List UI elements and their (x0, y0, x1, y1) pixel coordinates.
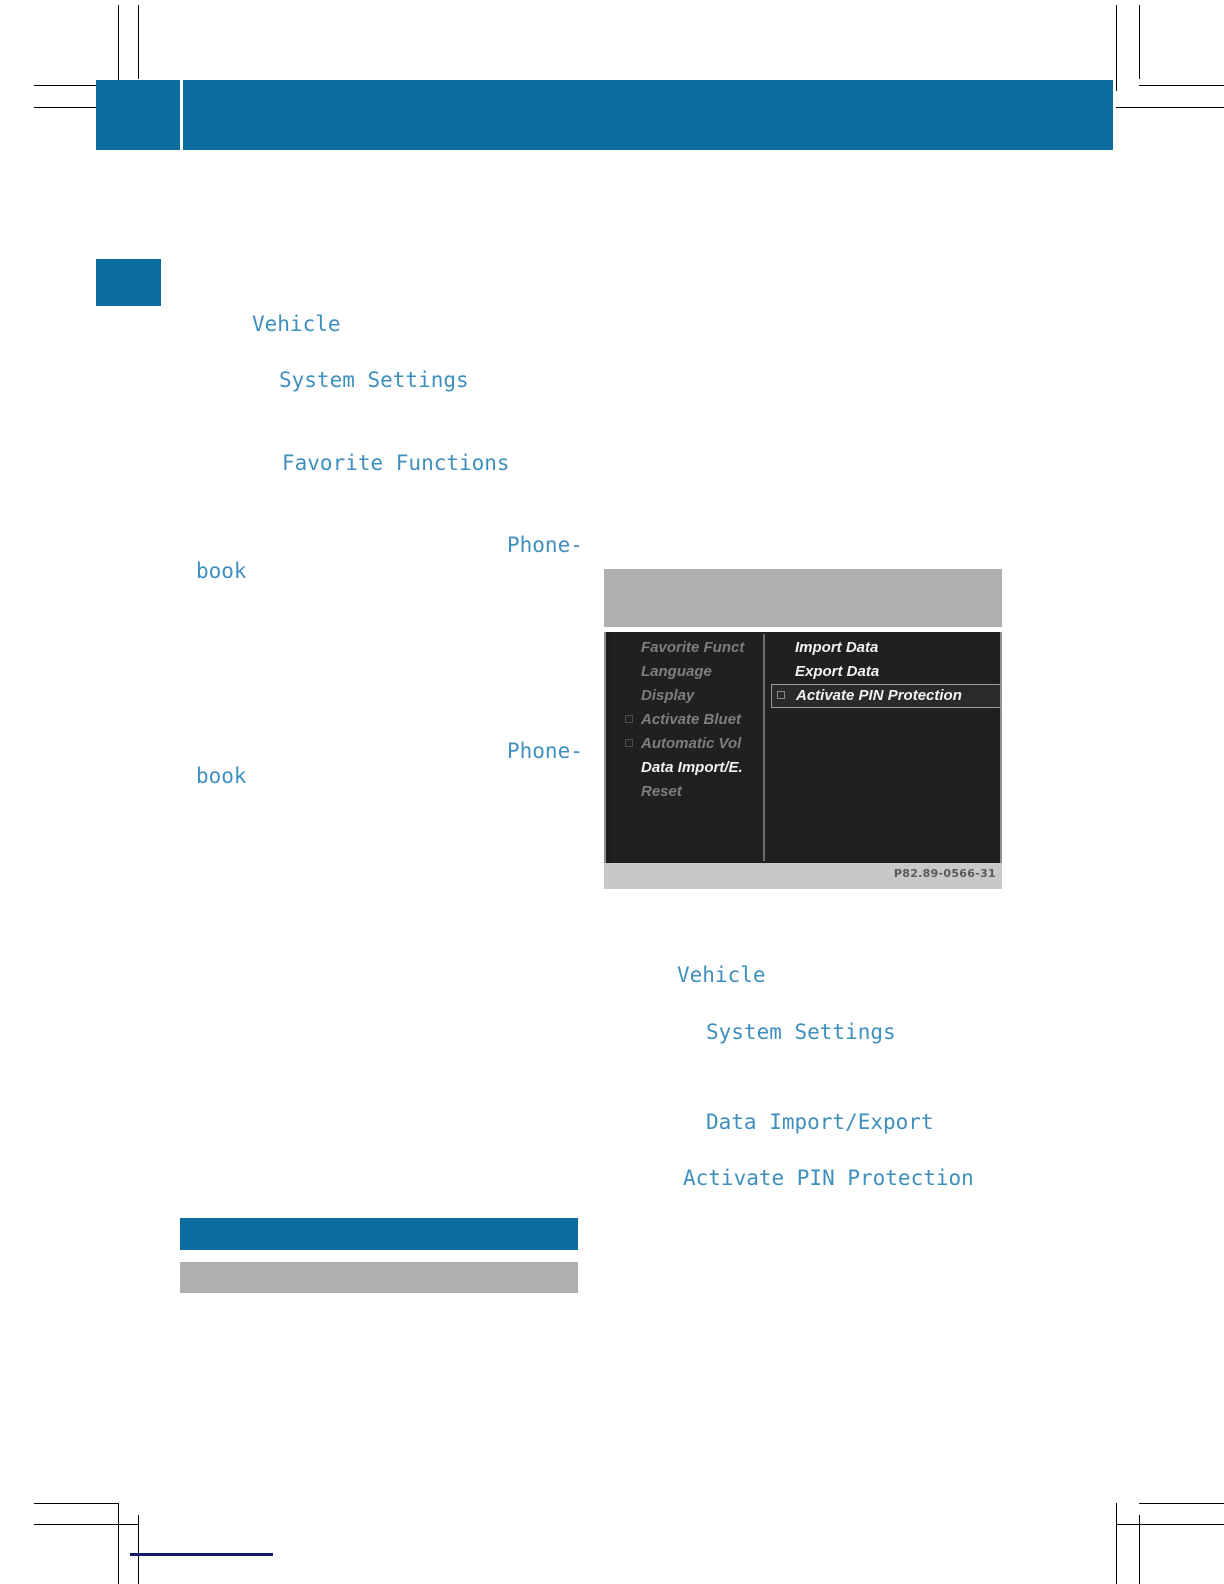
crop-mark-bottom-right-inner (1116, 1503, 1117, 1584)
menu-ref-phonebook-2-part2: book (196, 764, 247, 788)
checkbox-icon[interactable] (777, 691, 785, 699)
menu-item-label: Data Import/E. (641, 759, 743, 776)
menu-item-reset[interactable]: Reset (619, 780, 764, 804)
menu-item-label: Display (641, 687, 694, 704)
comand-screen-figure: Favorite Funct Language Display Activate… (604, 569, 1002, 889)
section-marker-block (96, 259, 161, 306)
menu-item-display[interactable]: Display (619, 684, 764, 708)
menu-item-label: Automatic Vol (641, 735, 741, 752)
crop-mark-top-right-h1 (1139, 85, 1224, 86)
menu-ref-system-settings-1: System Settings (279, 368, 469, 392)
callout-bar-gray (180, 1262, 578, 1293)
menu-ref-activate-pin-protection: Activate PIN Protection (683, 1166, 974, 1190)
menu-ref-favorite-functions: Favorite Functions (282, 451, 510, 475)
system-settings-menu-list[interactable]: Favorite Funct Language Display Activate… (619, 636, 764, 859)
comand-screen: Favorite Funct Language Display Activate… (604, 632, 1002, 863)
crop-mark-bottom-left-h1 (34, 1503, 119, 1504)
figure-top-band (604, 569, 1002, 627)
crop-mark-top-left-inner (118, 5, 119, 91)
checkbox-icon[interactable] (625, 739, 633, 747)
crop-mark-bottom-left-outer (138, 1515, 139, 1584)
submenu-item-export-data[interactable]: Export Data (771, 660, 1001, 684)
menu-ref-phonebook-1-part1: Phone- (507, 533, 583, 557)
menu-item-data-import-export[interactable]: Data Import/E. (619, 756, 764, 780)
crop-mark-bottom-left-inner (118, 1503, 119, 1584)
crop-mark-top-right-inner (1116, 5, 1117, 91)
figure-footer-band: P82.89-0566-31 (604, 863, 1002, 889)
callout-bar-blue (180, 1218, 578, 1250)
menu-ref-phonebook-1-part2: book (196, 559, 247, 583)
crop-mark-bottom-right-outer (1139, 1515, 1140, 1584)
menu-ref-vehicle-2: Vehicle (677, 963, 766, 987)
submenu-item-label: Export Data (795, 663, 879, 680)
menu-item-label: Activate Bluet (641, 711, 741, 728)
checkbox-icon[interactable] (625, 715, 633, 723)
crop-mark-top-right-outer (1139, 5, 1140, 79)
figure-image-id: P82.89-0566-31 (894, 867, 996, 880)
footer-rule (130, 1553, 273, 1556)
menu-ref-data-import-export: Data Import/Export (706, 1110, 934, 1134)
submenu-item-import-data[interactable]: Import Data (771, 636, 1001, 660)
menu-item-favorite-functions[interactable]: Favorite Funct (619, 636, 764, 660)
crop-mark-bottom-right-h2 (1116, 1524, 1224, 1525)
crop-mark-bottom-left-h2 (34, 1524, 138, 1525)
menu-ref-vehicle-1: Vehicle (252, 312, 341, 336)
menu-ref-system-settings-2: System Settings (706, 1020, 896, 1044)
crop-mark-bottom-right-h1 (1139, 1503, 1224, 1504)
menu-item-automatic-volume[interactable]: Automatic Vol (619, 732, 764, 756)
menu-column-divider (763, 634, 765, 861)
header-divider (180, 80, 183, 150)
menu-ref-phonebook-2-part1: Phone- (507, 739, 583, 763)
crop-mark-top-left-outer (138, 5, 139, 79)
comand-screen-inner: Favorite Funct Language Display Activate… (611, 632, 999, 863)
page-header-band (96, 80, 1113, 150)
menu-item-label: Favorite Funct (641, 639, 744, 656)
menu-item-activate-bluetooth[interactable]: Activate Bluet (619, 708, 764, 732)
submenu-item-activate-pin-protection[interactable]: Activate PIN Protection (771, 684, 1001, 708)
submenu-item-label: Import Data (795, 639, 878, 656)
menu-item-language[interactable]: Language (619, 660, 764, 684)
data-import-export-submenu[interactable]: Import Data Export Data Activate PIN Pro… (771, 636, 1001, 859)
submenu-item-label: Activate PIN Protection (796, 687, 962, 704)
menu-item-label: Language (641, 663, 712, 680)
crop-mark-top-right-h2 (1116, 107, 1224, 108)
menu-item-label: Reset (641, 783, 682, 800)
